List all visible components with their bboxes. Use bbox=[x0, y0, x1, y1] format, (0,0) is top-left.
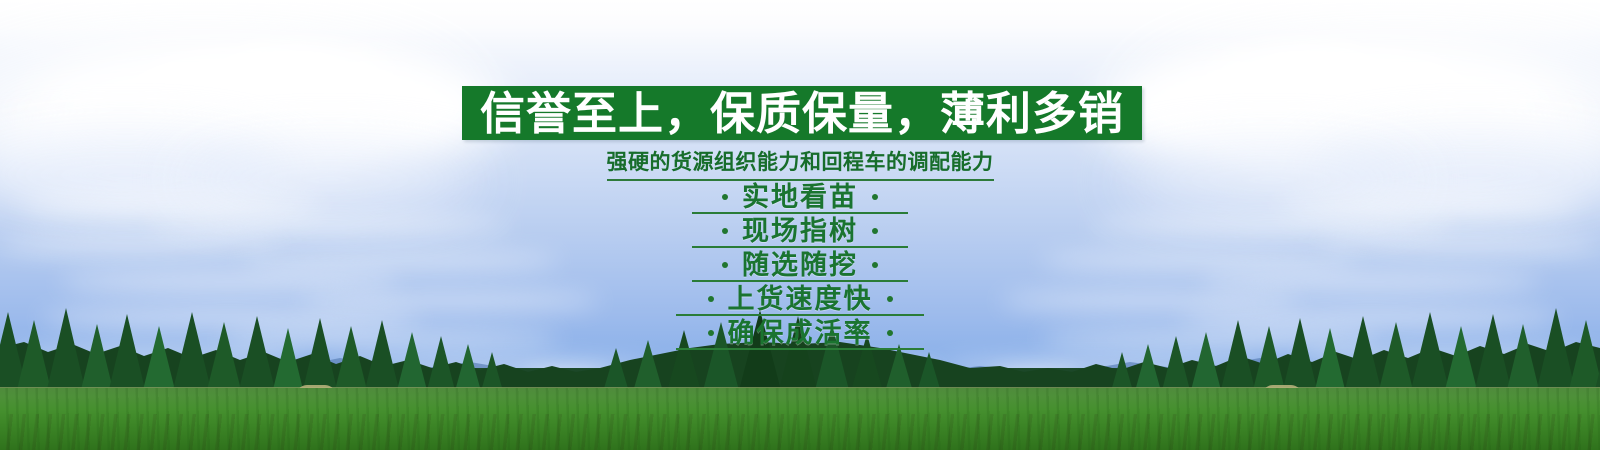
feature-label: 实地看苗 bbox=[742, 184, 858, 211]
feature-label: 确保成活率 bbox=[728, 320, 873, 347]
bullet-dot-right bbox=[872, 228, 878, 234]
bullet-dot-right bbox=[872, 262, 878, 268]
promo-banner: 信誉至上，保质保量，薄利多销 强硬的货源组织能力和回程车的调配能力 实地看苗 现… bbox=[0, 0, 1600, 450]
bullet-dot-right bbox=[887, 330, 893, 336]
bullet-dot-right bbox=[872, 194, 878, 200]
bullet-dot-left bbox=[708, 296, 714, 302]
bullet-dot-left bbox=[708, 330, 714, 336]
feature-item: 上货速度快 bbox=[0, 282, 1600, 316]
feature-label: 现场指树 bbox=[742, 218, 858, 245]
feature-item: 确保成活率 bbox=[0, 316, 1600, 350]
headline-banner: 信誉至上，保质保量，薄利多销 bbox=[462, 86, 1142, 140]
feature-label: 随选随挖 bbox=[742, 252, 858, 279]
banner-content: 信誉至上，保质保量，薄利多销 强硬的货源组织能力和回程车的调配能力 实地看苗 现… bbox=[0, 0, 1600, 450]
feature-divider bbox=[676, 348, 924, 350]
feature-item: 现场指树 bbox=[0, 214, 1600, 248]
bullet-dot-left bbox=[722, 262, 728, 268]
feature-list: 实地看苗 现场指树 随选随挖 上货速度快 bbox=[0, 180, 1600, 350]
subheadline-text: 强硬的货源组织能力和回程车的调配能力 bbox=[607, 146, 994, 181]
bullet-dot-right bbox=[887, 296, 893, 302]
feature-label: 上货速度快 bbox=[728, 286, 873, 313]
subheadline: 强硬的货源组织能力和回程车的调配能力 bbox=[0, 146, 1600, 181]
bullet-dot-left bbox=[722, 194, 728, 200]
feature-item: 随选随挖 bbox=[0, 248, 1600, 282]
feature-item: 实地看苗 bbox=[0, 180, 1600, 214]
headline-text: 信誉至上，保质保量，薄利多销 bbox=[480, 91, 1124, 136]
bullet-dot-left bbox=[722, 228, 728, 234]
